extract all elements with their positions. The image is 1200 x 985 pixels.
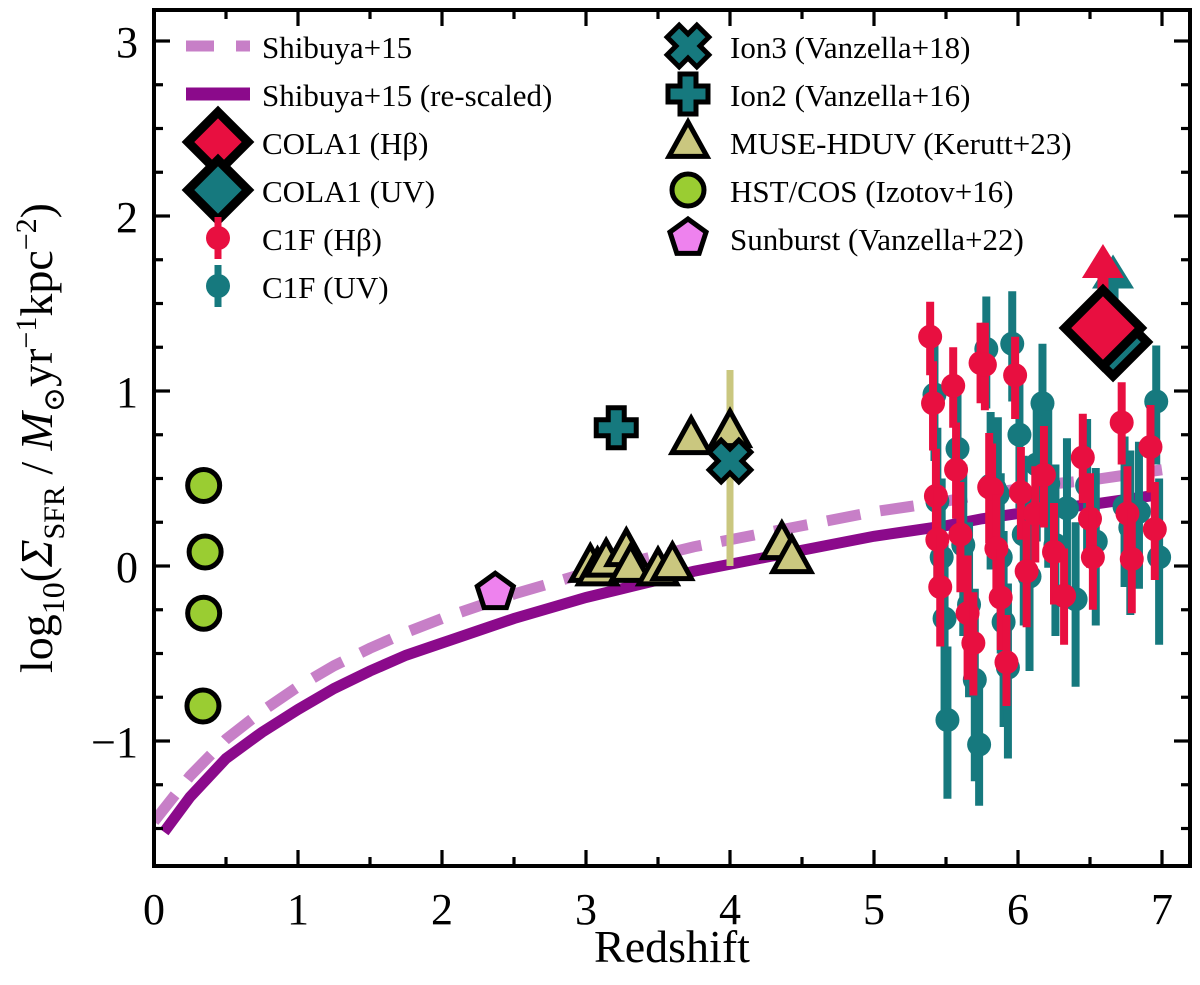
data-point xyxy=(948,523,972,547)
x-axis-title: Redshift xyxy=(594,921,750,972)
data-point xyxy=(1032,463,1056,487)
ion3-marker xyxy=(709,440,751,482)
legend-label: C1F (Hβ) xyxy=(262,222,382,257)
ylabel-kpc-sup: −2 xyxy=(10,218,43,250)
data-point xyxy=(1055,496,1079,520)
data-point xyxy=(980,477,1004,501)
data-point xyxy=(944,458,968,482)
legend-label: C1F (UV) xyxy=(262,270,389,305)
legend-item-muse-hduv-kerutt-23[interactable]: MUSE-HDUV (Kerutt+23) xyxy=(669,122,1072,161)
legend-label: Ion3 (Vanzella+18) xyxy=(730,30,970,65)
ylabel-slash: / xyxy=(11,450,62,486)
ylabel-sigma: Σ xyxy=(11,540,62,568)
ylabel-sigma-sub: SFR xyxy=(38,486,71,539)
data-point xyxy=(1115,502,1139,526)
data-point-circle xyxy=(188,597,220,629)
data-point xyxy=(989,586,1013,610)
data-point xyxy=(1120,547,1144,571)
x-tick-label: 2 xyxy=(431,885,453,934)
legend-label: MUSE-HDUV (Kerutt+23) xyxy=(730,126,1072,161)
legend-label: Shibuya+15 xyxy=(262,30,412,65)
data-point xyxy=(1143,517,1167,541)
y-tick-label: 3 xyxy=(116,18,138,67)
data-point xyxy=(961,631,985,655)
data-point xyxy=(921,391,945,415)
data-point-circle xyxy=(189,536,221,568)
sfr-density-vs-redshift-chart: 012345673210−1 Redshift log10(ΣSFR / M⊙y… xyxy=(0,0,1200,985)
data-point xyxy=(1009,481,1033,505)
data-point xyxy=(941,374,965,398)
ylabel-close: ) xyxy=(11,203,62,218)
data-point xyxy=(1081,545,1105,569)
figure-container: 012345673210−1 Redshift log10(ΣSFR / M⊙y… xyxy=(0,0,1200,985)
y-tick-label: 1 xyxy=(116,368,138,417)
x-tick-label: 5 xyxy=(863,885,885,934)
data-point xyxy=(1110,411,1134,435)
legend-marker-c1f-h xyxy=(206,226,230,250)
legend-label: Ion2 (Vanzella+16) xyxy=(730,78,970,113)
data-point xyxy=(1052,584,1076,608)
data-point xyxy=(967,733,991,757)
data-point xyxy=(1007,423,1031,447)
data-point xyxy=(918,325,942,349)
data-point xyxy=(1071,446,1095,470)
data-point-circle xyxy=(188,470,220,502)
ylabel-log: log xyxy=(11,614,62,673)
ylabel-mass-sub: ⊙ xyxy=(38,387,71,412)
data-point xyxy=(933,607,957,631)
ylabel-mass: M xyxy=(11,409,62,451)
data-point xyxy=(1015,559,1039,583)
legend-label: COLA1 (UV) xyxy=(262,174,435,209)
data-point-circle xyxy=(187,690,219,722)
y-tick-label: 0 xyxy=(116,543,138,592)
legend-marker-c1f-uv xyxy=(206,274,230,298)
data-point xyxy=(973,353,997,377)
data-point xyxy=(928,575,952,599)
legend-label: COLA1 (Hβ) xyxy=(262,126,428,161)
ylabel-kpc: kpc xyxy=(11,250,62,316)
ylabel-yr: yr xyxy=(11,349,62,387)
legend-marker-ion3-vanzella-18 xyxy=(667,25,709,67)
x-tick-label: 0 xyxy=(143,885,165,934)
data-point xyxy=(1003,363,1027,387)
data-point xyxy=(935,708,959,732)
x-tick-label: 6 xyxy=(1007,885,1029,934)
data-point xyxy=(994,650,1018,674)
y-tick-label: 2 xyxy=(116,193,138,242)
data-point xyxy=(984,537,1008,561)
ylabel-yr-sup: −1 xyxy=(10,317,43,349)
legend-marker-hst-cos-izotov-16 xyxy=(672,174,704,206)
data-point xyxy=(1147,545,1171,569)
ylabel-log-sub: 10 xyxy=(35,582,71,614)
ylabel-open: ( xyxy=(11,567,62,582)
y-tick-label: −1 xyxy=(91,718,138,767)
legend-label: HST/COS (Izotov+16) xyxy=(730,174,1014,209)
x-tick-label: 7 xyxy=(1151,885,1173,934)
x-tick-label: 1 xyxy=(287,885,309,934)
data-point xyxy=(1138,435,1162,459)
legend-label: Shibuya+15 (re-scaled) xyxy=(262,78,552,113)
legend-label: Sunburst (Vanzella+22) xyxy=(730,222,1024,257)
